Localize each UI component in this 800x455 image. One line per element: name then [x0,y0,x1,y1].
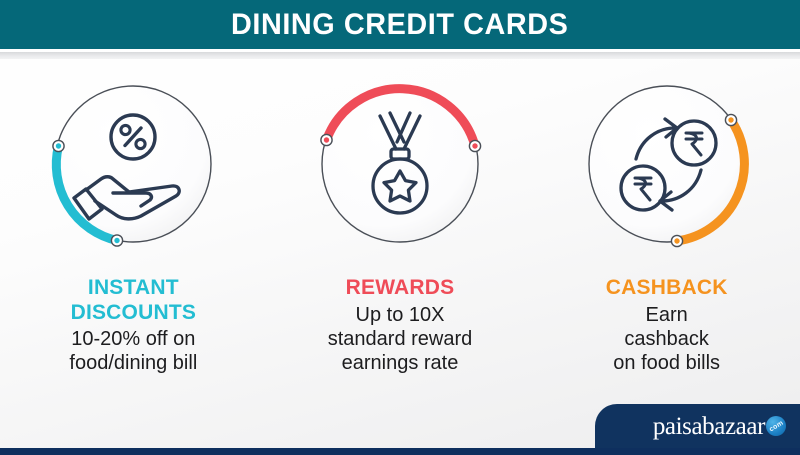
header-bar: DINING CREDIT CARDS [0,0,800,49]
feature-card-instant-discounts: INSTANT DISCOUNTS 10-20% off on food/din… [0,62,267,392]
caption-title: CASHBACK [606,276,728,301]
footer-strip [0,448,800,455]
caption-rewards: REWARDS Up to 10X standard reward earnin… [328,276,473,375]
caption-instant-discounts: INSTANT DISCOUNTS 10-20% off on food/din… [69,276,197,375]
caption-body-line-3: on food bills [606,351,728,375]
caption-title-line-1: INSTANT [69,276,197,301]
dotcom-badge-icon: com [766,416,786,436]
rupee-cashback-cycle-icon [579,76,755,252]
caption-body-line-2: cashback [606,327,728,351]
medal-star-icon [312,76,488,252]
badge-instant-discounts [45,76,221,252]
caption-title-line-1: REWARDS [328,276,473,301]
percent-in-hand-icon [45,76,221,252]
caption-body-line-1: 10-20% off on [69,327,197,351]
feature-columns: INSTANT DISCOUNTS 10-20% off on food/din… [0,62,800,392]
feature-card-cashback: CASHBACK Earn cashback on food bills [533,62,800,392]
header-shadow [0,52,800,59]
infographic-canvas: DINING CREDIT CARDS [0,0,800,455]
caption-body-line-1: Earn [606,303,728,327]
caption-title: REWARDS [328,276,473,301]
caption-cashback: CASHBACK Earn cashback on food bills [606,276,728,375]
caption-body-line-3: earnings rate [328,351,473,375]
brand-logo-text: paisabazaar [653,414,765,439]
feature-card-rewards: REWARDS Up to 10X standard reward earnin… [267,62,534,392]
page-title: DINING CREDIT CARDS [231,8,568,42]
caption-body-line-2: food/dining bill [69,351,197,375]
badge-rewards [312,76,488,252]
caption-title: INSTANT DISCOUNTS [69,276,197,325]
badge-cashback [579,76,755,252]
caption-body-line-2: standard reward [328,327,473,351]
caption-title-line-1: CASHBACK [606,276,728,301]
dotcom-badge-label: com [768,419,784,433]
caption-body: Earn cashback on food bills [606,303,728,375]
caption-body: Up to 10X standard reward earnings rate [328,303,473,375]
caption-title-line-2: DISCOUNTS [69,301,197,326]
caption-body-line-1: Up to 10X [328,303,473,327]
brand-logo-plate[interactable]: paisabazaar com [595,404,800,448]
caption-body: 10-20% off on food/dining bill [69,327,197,375]
